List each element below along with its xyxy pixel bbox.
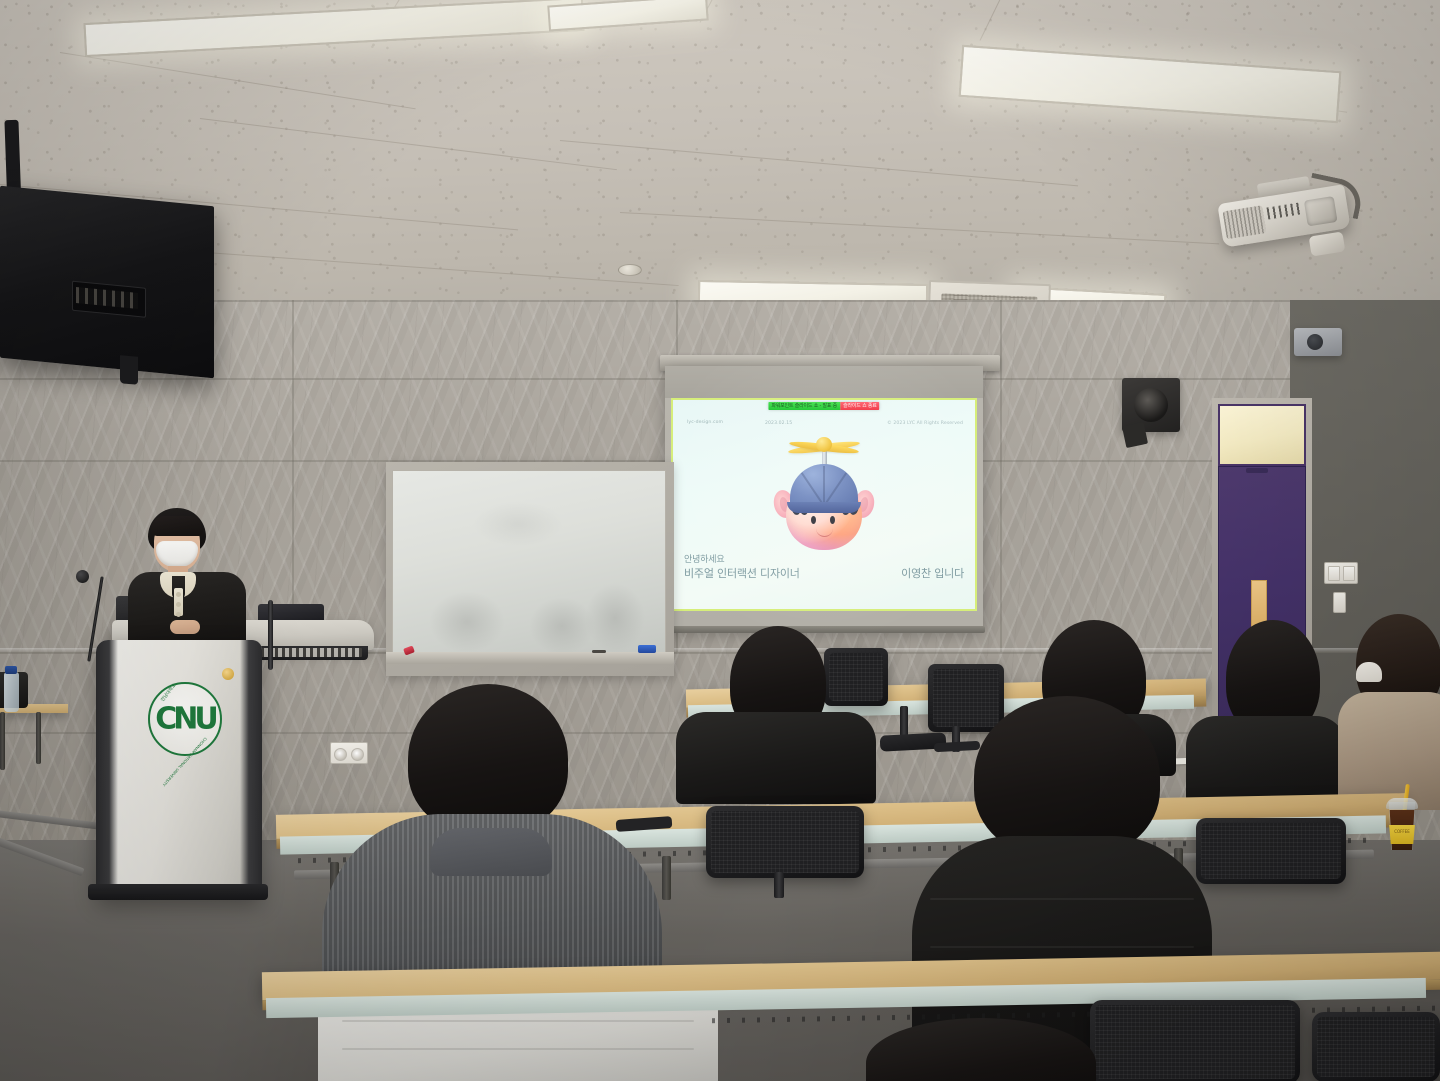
student [866,1018,1096,1081]
character-illustration [756,428,892,556]
tv-stand [120,355,138,385]
door-closer [1246,468,1268,473]
podium-base [88,884,268,900]
chair-post [774,872,784,898]
character-eye-right [830,516,835,524]
chair[interactable] [1090,1000,1300,1081]
light-switch-panel[interactable] [1324,562,1358,584]
projection-screen: 파워포인트 슬라이드 쇼 - 발표 중 슬라이드 쇼 종료 lyc-design… [665,366,983,628]
university-logo: 전남대학교 CHONNAM NATIONAL UNIVERSITY CNU [148,682,222,756]
chair[interactable] [1196,818,1346,884]
microphone-head[interactable] [76,570,89,583]
podium-left-edge [96,640,118,898]
chair[interactable] [1312,1012,1440,1081]
presenter-hands [170,620,200,634]
screen-blank-area [665,366,983,398]
black-marker[interactable] [592,650,606,653]
whiteboard [392,470,666,656]
projector-vent [1223,205,1267,239]
slide-name-text: 이영찬 입니다 [901,565,964,581]
wall-mounted-tv [0,186,214,379]
cap-brim [787,502,861,513]
iced-coffee-cup[interactable]: COFFEE [1386,790,1418,850]
presenter [126,508,248,648]
water-bottle-cap [5,666,17,674]
student-torso [676,712,876,804]
smoke-detector-icon [618,264,642,276]
student-mask [1356,662,1382,682]
cup-sleeve: COFFEE [1388,825,1416,844]
shirt-button [176,612,181,617]
slide-role-text: 비주얼 인터랙션 디자이너 [684,565,800,581]
av-control-panel[interactable] [250,648,362,657]
slide-website: lyc-design.com [687,420,723,425]
character-cap [790,464,858,510]
student-hair [408,684,568,834]
slideshow-toolbar[interactable]: 파워포인트 슬라이드 쇼 - 발표 중 슬라이드 쇼 종료 [768,402,879,410]
shirt-button [176,602,181,607]
door-transom-window [1218,404,1306,466]
student-hair [866,1018,1096,1081]
slide-greeting-text: 안녕하세요 [684,552,724,565]
student [676,626,876,802]
slideshow-end-button[interactable]: 슬라이드 쇼 종료 [840,402,880,410]
student [1338,614,1440,814]
presenter-fringe [151,516,203,536]
whiteboard-marker-tray [386,652,674,664]
water-bottle [4,672,19,712]
university-logo-mark: CNU [155,702,214,737]
character-eye-left [811,516,816,524]
student-turtleneck-collar [430,828,552,876]
presentation-slide: 파워포인트 슬라이드 쇼 - 발표 중 슬라이드 쇼 종료 lyc-design… [671,398,977,611]
speaker-bracket [1122,422,1148,448]
slide-copyright: © 2023 LYC All Rights Reserved [887,421,963,426]
slide-date: 2023.02.15 [765,421,792,426]
side-table-leg [36,712,41,764]
projector-sensor [1309,231,1346,256]
student-hair [974,696,1160,858]
projector-lens [1304,196,1338,226]
ceiling-projector [1212,180,1392,280]
emergency-light [1294,328,1342,356]
cup-lid [1386,798,1418,809]
podium-right-edge [240,640,262,898]
thermostat-panel[interactable] [1333,592,1346,613]
lecture-hall-photo: 파워포인트 슬라이드 쇼 - 발표 중 슬라이드 쇼 종료 lyc-design… [0,0,1440,1081]
whiteboard-eraser[interactable] [638,645,656,653]
chair[interactable] [706,806,864,878]
slideshow-status-label: 파워포인트 슬라이드 쇼 - 발표 중 [768,402,840,410]
projector-ports [1266,202,1301,219]
side-table-leg [0,712,5,770]
cup-sleeve-label: COFFEE [1388,829,1416,834]
podium-microphone-2[interactable] [268,600,273,670]
shirt-button [176,592,181,597]
propeller-knob [816,437,832,452]
podium-brass-badge [222,668,234,680]
